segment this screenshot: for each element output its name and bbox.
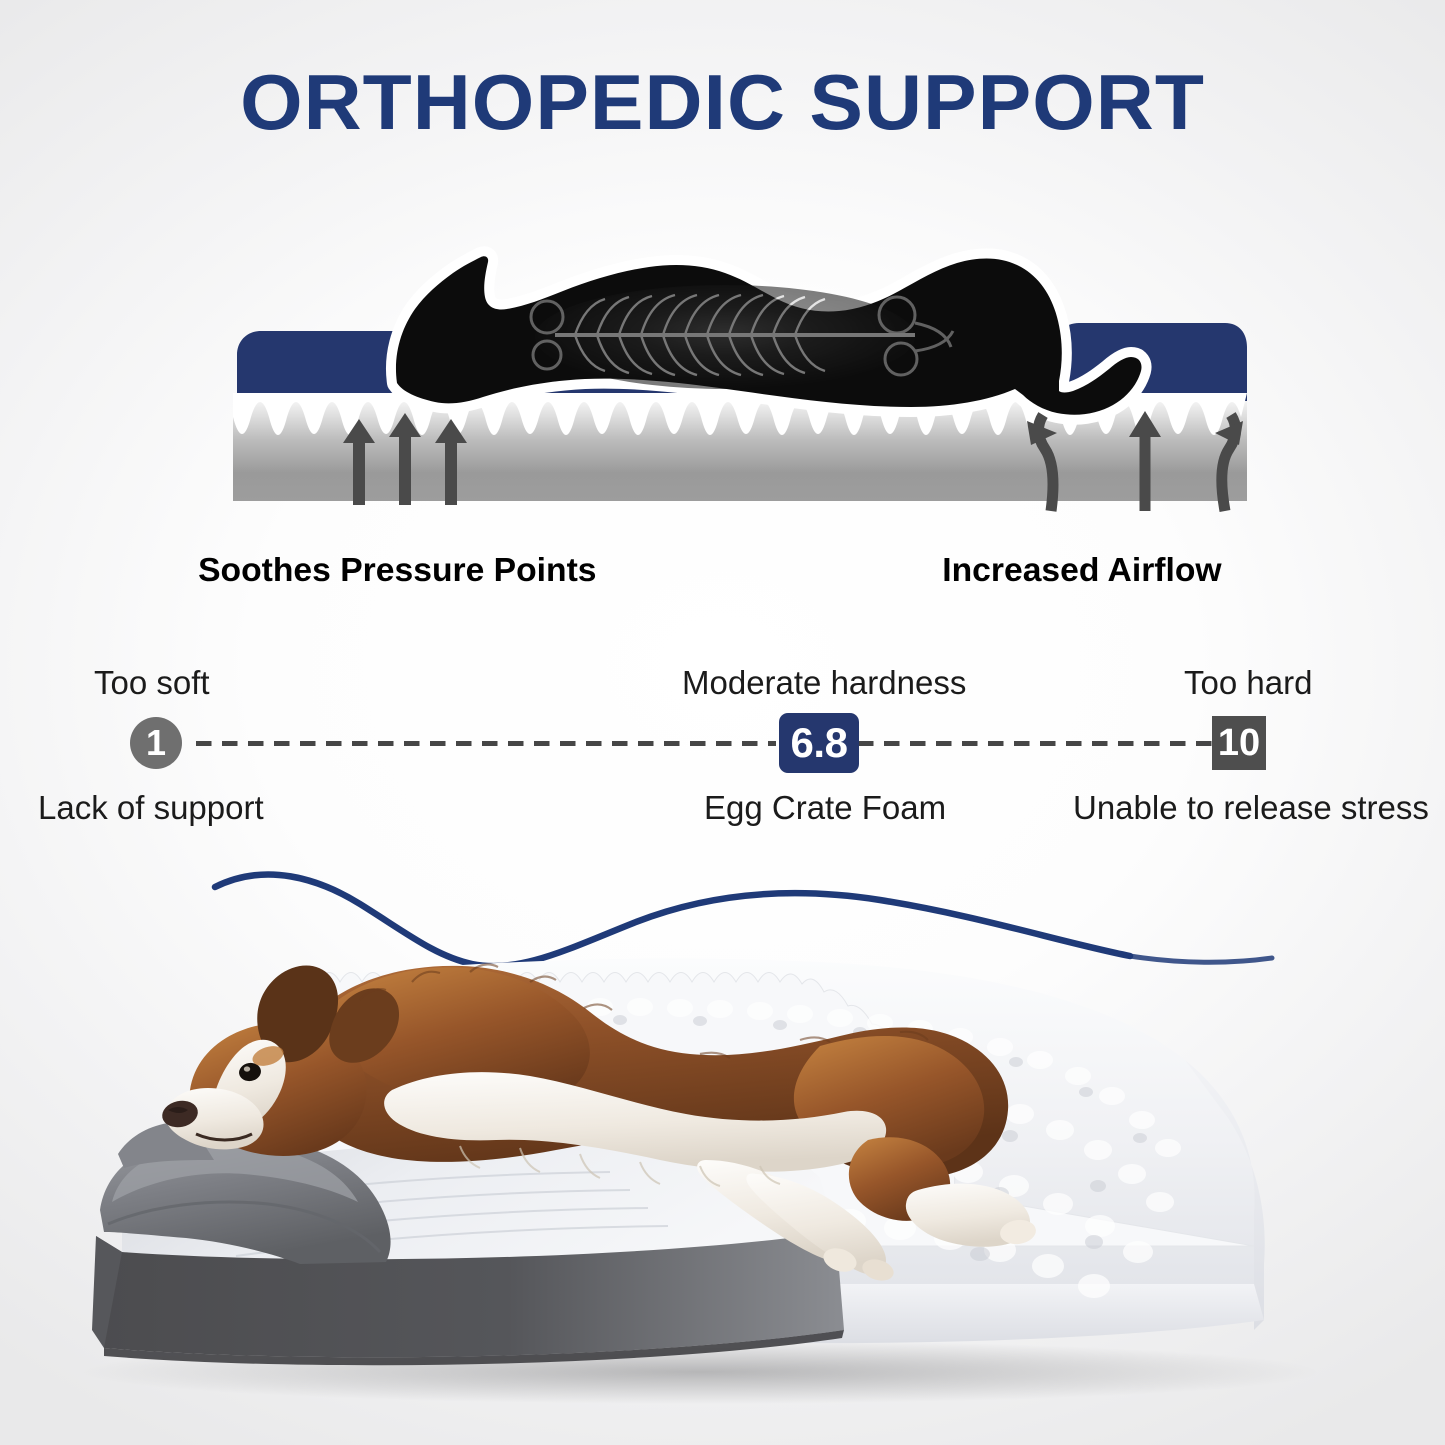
page-title: ORTHOPEDIC SUPPORT	[0, 58, 1445, 146]
scale-top-label-hard: Too hard	[1184, 665, 1312, 701]
dog-on-orthopedic-bed-photo	[0, 860, 1445, 1445]
navy-swoosh-line	[215, 874, 1272, 966]
dog-xray-silhouette	[396, 256, 1142, 415]
scale-marker-1[interactable]: 1	[130, 717, 182, 769]
scale-marker-10[interactable]: 10	[1212, 716, 1266, 770]
foam-cross-section-diagram	[225, 205, 1255, 515]
pressure-points-label: Soothes Pressure Points	[198, 552, 596, 588]
pressure-arrows	[343, 413, 467, 505]
scale-track-right	[858, 741, 1214, 746]
airflow-label: Increased Airflow	[942, 552, 1221, 588]
scale-top-label-soft: Too soft	[94, 665, 210, 701]
scale-bottom-label-unable-to-release-stress: Unable to release stress	[1073, 790, 1429, 826]
scale-marker-6-8[interactable]: 6.8	[779, 713, 859, 773]
scale-top-label-moderate: Moderate hardness	[682, 665, 966, 701]
infographic-canvas: ORTHOPEDIC SUPPORT	[0, 0, 1445, 1445]
hardness-scale: Too soft Moderate hardness Too hard 1 6.…	[0, 655, 1445, 835]
scale-bottom-label-egg-crate-foam: Egg Crate Foam	[704, 790, 946, 826]
scale-bottom-label-lack-of-support: Lack of support	[38, 790, 264, 826]
scale-track-left	[196, 741, 776, 746]
